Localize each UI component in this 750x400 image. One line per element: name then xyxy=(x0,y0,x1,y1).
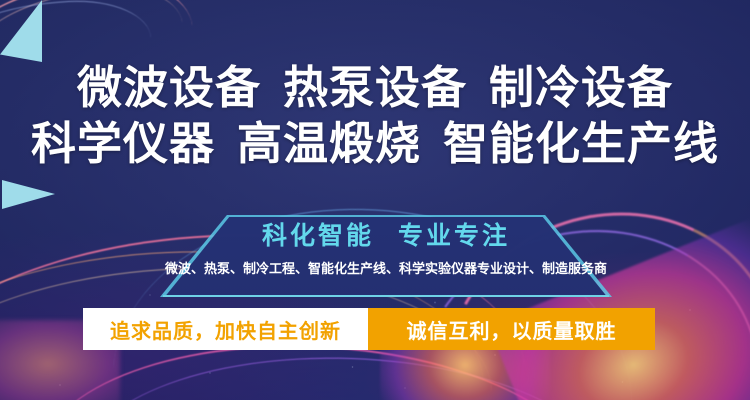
headline-term-instruments: 科学仪器 xyxy=(31,116,215,172)
badge-slogan-right: 专业专注 xyxy=(398,222,510,250)
headline-term-calcination: 高温煅烧 xyxy=(237,116,421,172)
promo-banner: 微波设备热泵设备制冷设备 科学仪器高温煅烧智能化生产线 科化智能专业专注 微波、… xyxy=(0,0,750,400)
slogan-bar-right-text: 诚信互利，以质量取胜 xyxy=(407,315,617,344)
slogan-badge: 科化智能专业专注 微波、热泵、制冷工程、智能化生产线、科学实验仪器专业设计、制造… xyxy=(160,215,612,297)
slogan-bar-right: 诚信互利，以质量取胜 xyxy=(368,308,655,350)
slogan-bar: 追求品质，加快自主创新 诚信互利，以质量取胜 xyxy=(83,308,655,350)
headline-line-1: 微波设备热泵设备制冷设备 xyxy=(0,60,750,116)
slogan-bar-left-text: 追求品质，加快自主创新 xyxy=(110,315,341,344)
slogan-bar-left: 追求品质，加快自主创新 xyxy=(83,308,368,350)
headline: 微波设备热泵设备制冷设备 科学仪器高温煅烧智能化生产线 xyxy=(0,60,750,172)
badge-subtitle: 微波、热泵、制冷工程、智能化生产线、科学实验仪器专业设计、制造服务商 xyxy=(165,260,607,277)
headline-term-refrigeration: 制冷设备 xyxy=(489,60,673,116)
headline-line-2: 科学仪器高温煅烧智能化生产线 xyxy=(0,116,750,172)
headline-term-smartline: 智能化生产线 xyxy=(443,116,719,172)
badge-slogan: 科化智能专业专注 xyxy=(262,221,510,251)
left-arrow-triangle-icon xyxy=(2,180,55,209)
headline-term-microwave: 微波设备 xyxy=(77,60,261,116)
badge-slogan-left: 科化智能 xyxy=(262,222,374,250)
headline-term-heatpump: 热泵设备 xyxy=(283,60,467,116)
